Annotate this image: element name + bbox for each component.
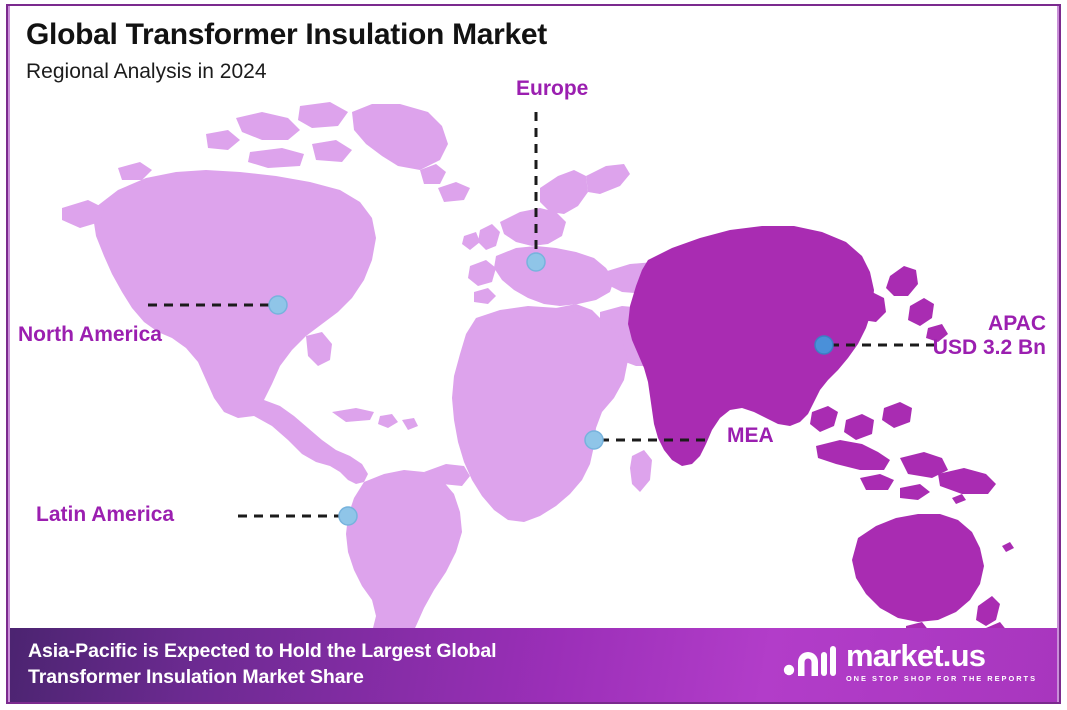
callout-latin-america-label: Latin America xyxy=(36,503,174,527)
callout-latin-america[interactable]: Latin America xyxy=(36,503,174,527)
logo-tagline: ONE STOP SHOP FOR THE REPORTS xyxy=(846,675,1037,682)
bottom-banner: Asia-Pacific is Expected to Hold the Lar… xyxy=(8,628,1059,702)
callout-apac-label: APAC xyxy=(916,312,1046,336)
infographic-canvas: Global Transformer Insulation Market Reg… xyxy=(0,0,1067,710)
logo-text-block: market.us ONE STOP SHOP FOR THE REPORTS xyxy=(846,640,1037,682)
market-us-logo-icon xyxy=(783,640,837,682)
callout-apac-value: USD 3.2 Bn xyxy=(916,336,1046,360)
callout-north-america-label: North America xyxy=(18,323,162,347)
callout-apac[interactable]: APAC USD 3.2 Bn xyxy=(916,312,1046,360)
banner-headline: Asia-Pacific is Expected to Hold the Lar… xyxy=(28,639,496,690)
callout-mea-label: MEA xyxy=(727,424,774,448)
callout-north-america[interactable]: North America xyxy=(18,323,162,347)
map-region-apac-highlight xyxy=(628,226,1014,630)
page-subtitle: Regional Analysis in 2024 xyxy=(26,59,547,84)
callout-europe[interactable]: Europe xyxy=(516,77,588,101)
callout-europe-label: Europe xyxy=(516,77,588,101)
logo-wordmark: market.us xyxy=(846,640,1037,671)
market-us-logo[interactable]: market.us ONE STOP SHOP FOR THE REPORTS xyxy=(783,640,1037,682)
header: Global Transformer Insulation Market Reg… xyxy=(26,18,547,84)
map-region-base xyxy=(62,102,700,630)
callout-mea[interactable]: MEA xyxy=(727,424,774,448)
page-title: Global Transformer Insulation Market xyxy=(26,18,547,51)
